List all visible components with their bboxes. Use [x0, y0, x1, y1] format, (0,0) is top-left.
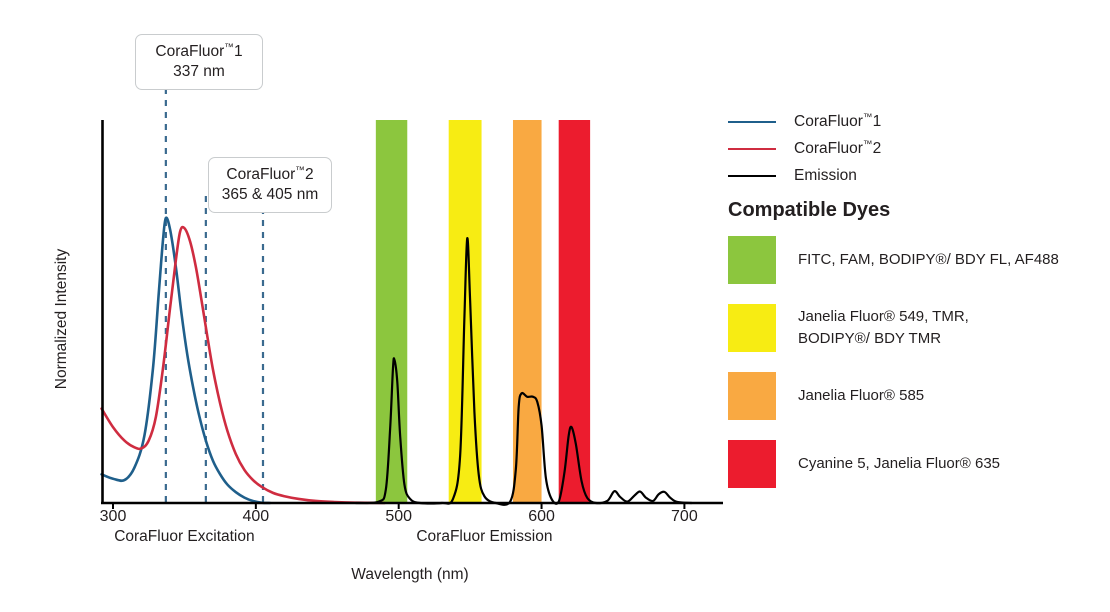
compatible-dyes-list: FITC, FAM, BODIPY®/ BDY FL, AF488Janelia…: [728, 236, 1103, 508]
legend-label: CoraFluor™1: [794, 112, 881, 131]
dye-row-1[interactable]: Janelia Fluor® 549, TMR,BODIPY®/ BDY TMR: [728, 304, 1103, 352]
dye-color-swatch: [728, 440, 776, 488]
x-tick-400: 400: [226, 508, 286, 526]
series-legend: CoraFluor™1CoraFluor™2Emission: [728, 108, 1103, 189]
red-band: [559, 120, 590, 503]
curve-corafluor1: [102, 218, 271, 503]
legend-label: Emission: [794, 167, 857, 185]
callout-corafluor-2: CoraFluor™2 365 & 405 nm: [208, 157, 332, 213]
curve-corafluor2: [102, 227, 385, 503]
dye-color-swatch: [728, 236, 776, 284]
callout-cf2-line2: 365 & 405 nm: [221, 185, 319, 204]
legend-entry-1[interactable]: CoraFluor™2: [728, 135, 1103, 162]
x-tick-600: 600: [512, 508, 572, 526]
dye-label: Cyanine 5, Janelia Fluor® 635: [798, 453, 1000, 475]
x-axis-title: Wavelength (nm): [0, 566, 820, 584]
legend-entry-0[interactable]: CoraFluor™1: [728, 108, 1103, 135]
x-tick-700: 700: [654, 508, 714, 526]
legend-entry-2[interactable]: Emission: [728, 162, 1103, 189]
legend-label: CoraFluor™2: [794, 139, 881, 158]
dye-row-2[interactable]: Janelia Fluor® 585: [728, 372, 1103, 420]
green-band: [376, 120, 407, 503]
x-tick-500: 500: [369, 508, 429, 526]
callout-corafluor-1: CoraFluor™1 337 nm: [135, 34, 263, 90]
dye-label: Janelia Fluor® 549, TMR,BODIPY®/ BDY TMR: [798, 306, 969, 350]
legend-line-swatch-icon: [728, 121, 776, 123]
dye-row-3[interactable]: Cyanine 5, Janelia Fluor® 635: [728, 440, 1103, 488]
dye-row-0[interactable]: FITC, FAM, BODIPY®/ BDY FL, AF488: [728, 236, 1103, 284]
callout-cf2-line1: CoraFluor™2: [221, 165, 319, 185]
x-tick-300: 300: [83, 508, 143, 526]
callout-cf1-line1: CoraFluor™1: [148, 42, 250, 62]
callout-cf1-line2: 337 nm: [148, 62, 250, 81]
legend-line-swatch-icon: [728, 148, 776, 150]
y-axis-title: Normalized Intensity: [53, 234, 71, 404]
dye-color-swatch: [728, 304, 776, 352]
legend-line-swatch-icon: [728, 175, 776, 177]
axis-caption-excitation: CoraFluor Excitation: [84, 528, 284, 546]
dye-label: Janelia Fluor® 585: [798, 385, 924, 407]
compatible-dyes-title: Compatible Dyes: [728, 199, 890, 222]
dye-color-swatch: [728, 372, 776, 420]
dye-label: FITC, FAM, BODIPY®/ BDY FL, AF488: [798, 249, 1059, 271]
dye-bands-group: [376, 120, 590, 503]
axis-caption-emission: CoraFluor Emission: [384, 528, 584, 546]
